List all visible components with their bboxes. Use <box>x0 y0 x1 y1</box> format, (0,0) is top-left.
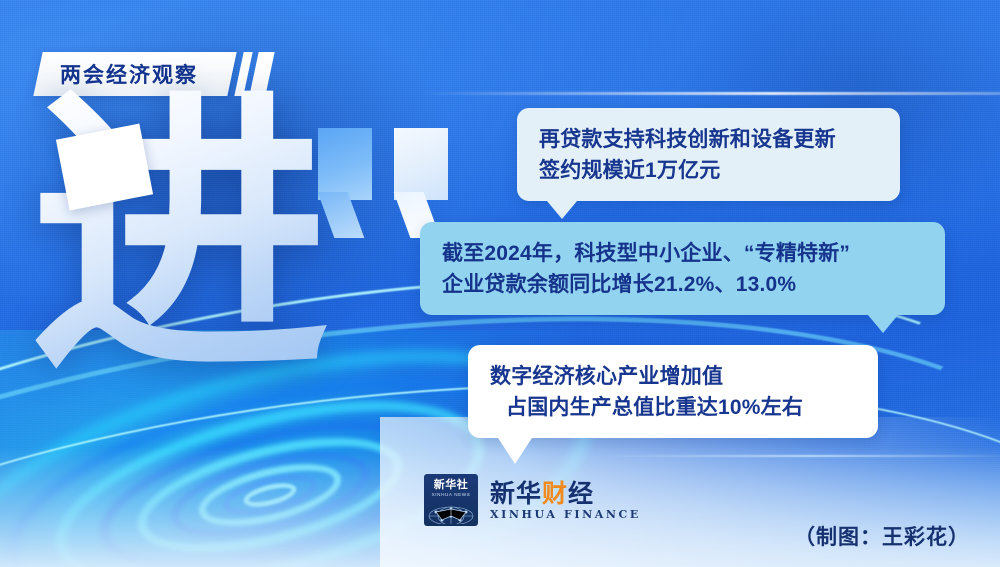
xinhua-news-badge-cn: 新华社 <box>434 479 469 491</box>
infographic-canvas: 两会经济观察 进 再贷款支持科技创新和设备更新 签约规模近1万亿元 截至2024… <box>0 0 1000 567</box>
finance-char-1: 新 <box>490 479 516 508</box>
logo-group: 新华社 XINHUA NEWS 新华财经 <box>424 474 641 526</box>
finance-char-2: 华 <box>516 479 542 508</box>
xinhua-finance-en: XINHUA FINANCE <box>490 508 641 521</box>
callout-bubble-3[interactable]: 数字经济核心产业增加值 占国内生产总值比重达10%左右 <box>468 345 878 438</box>
credit-text: （制图：王彩花） <box>794 521 970 551</box>
finance-char-3: 财 <box>542 479 568 508</box>
quote-glyph-right <box>394 128 448 224</box>
callout-3-tail <box>498 438 532 464</box>
callout-3-line-1: 数字经济核心产业增加值 <box>490 361 856 392</box>
callout-2-line-1: 截至2024年，科技型中小企业、“专精特新” <box>442 238 923 269</box>
light-streak-top <box>420 92 1000 95</box>
callout-bubble-2[interactable]: 截至2024年，科技型中小企业、“专精特新” 企业贷款余额同比增长21.2%、1… <box>420 222 945 315</box>
globe-network-icon <box>424 500 478 524</box>
xinhua-news-badge-en: XINHUA NEWS <box>432 492 471 497</box>
xinhua-news-badge: 新华社 XINHUA NEWS <box>424 474 478 526</box>
hero-glyph: 进 <box>30 88 330 388</box>
callout-bubble-1[interactable]: 再贷款支持科技创新和设备更新 签约规模近1万亿元 <box>517 108 900 201</box>
finance-char-4: 经 <box>568 479 594 508</box>
callout-2-line-2: 企业贷款余额同比增长21.2%、13.0% <box>442 269 923 300</box>
callout-3-line-2: 占国内生产总值比重达10%左右 <box>490 392 856 423</box>
callout-1-line-2: 签约规模近1万亿元 <box>539 155 878 186</box>
light-streak-bottom <box>600 455 1000 457</box>
callout-1-line-1: 再贷款支持科技创新和设备更新 <box>539 124 878 155</box>
callout-1-tail <box>547 201 577 219</box>
xinhua-finance-logo: 新华财经 XINHUA FINANCE <box>490 480 641 521</box>
xinhua-finance-cn: 新华财经 <box>490 480 641 507</box>
quote-glyph-left <box>318 128 372 224</box>
callout-2-tail <box>868 315 898 333</box>
